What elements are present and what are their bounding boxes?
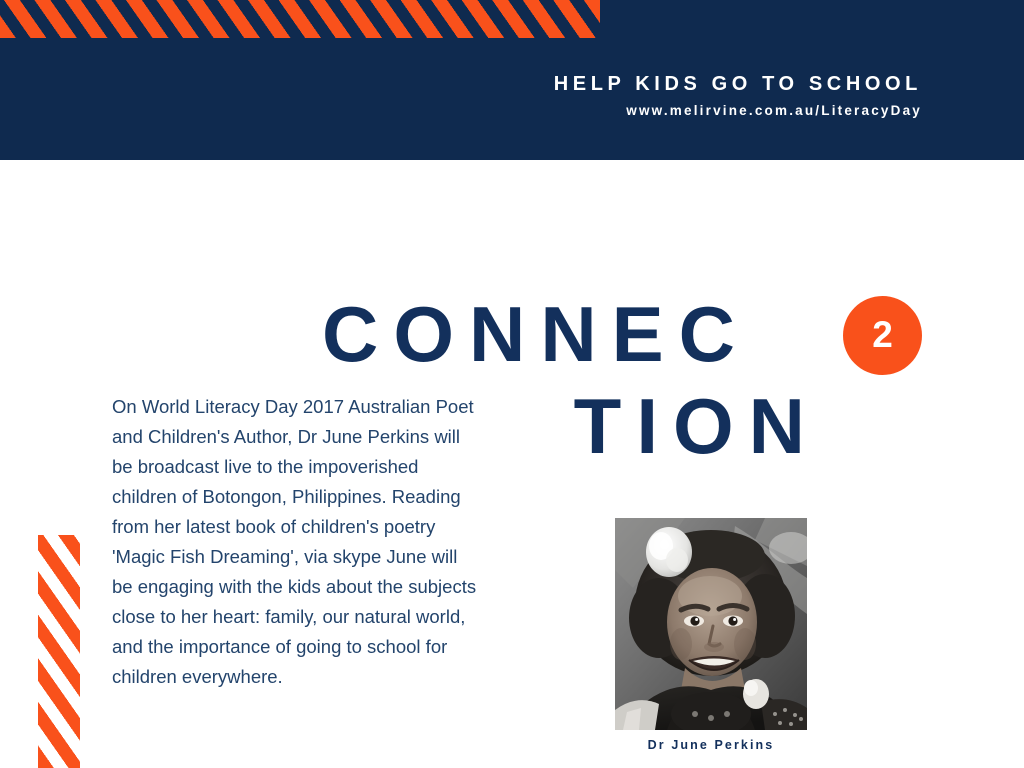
header-url[interactable]: www.melirvine.com.au/LiteracyDay — [554, 101, 922, 121]
portrait-photo-frame — [615, 518, 807, 730]
photo-caption: Dr June Perkins — [615, 738, 807, 752]
header-title: HELP KIDS GO TO SCHOOL — [554, 72, 922, 96]
header-band: HELP KIDS GO TO SCHOOL www.melirvine.com… — [0, 0, 1024, 160]
portrait-photo — [615, 518, 807, 730]
page-title-line-1: CONNEC — [322, 288, 822, 380]
portrait-photo-image — [615, 518, 807, 730]
top-stripe-decoration — [0, 0, 600, 38]
number-badge: 2 — [843, 296, 922, 375]
number-badge-value: 2 — [872, 316, 893, 353]
header-text-group: HELP KIDS GO TO SCHOOL www.melirvine.com… — [554, 72, 922, 121]
side-stripe-decoration — [38, 535, 80, 768]
poster-canvas: HELP KIDS GO TO SCHOOL www.melirvine.com… — [0, 0, 1024, 768]
body-paragraph: On World Literacy Day 2017 Australian Po… — [112, 392, 478, 692]
